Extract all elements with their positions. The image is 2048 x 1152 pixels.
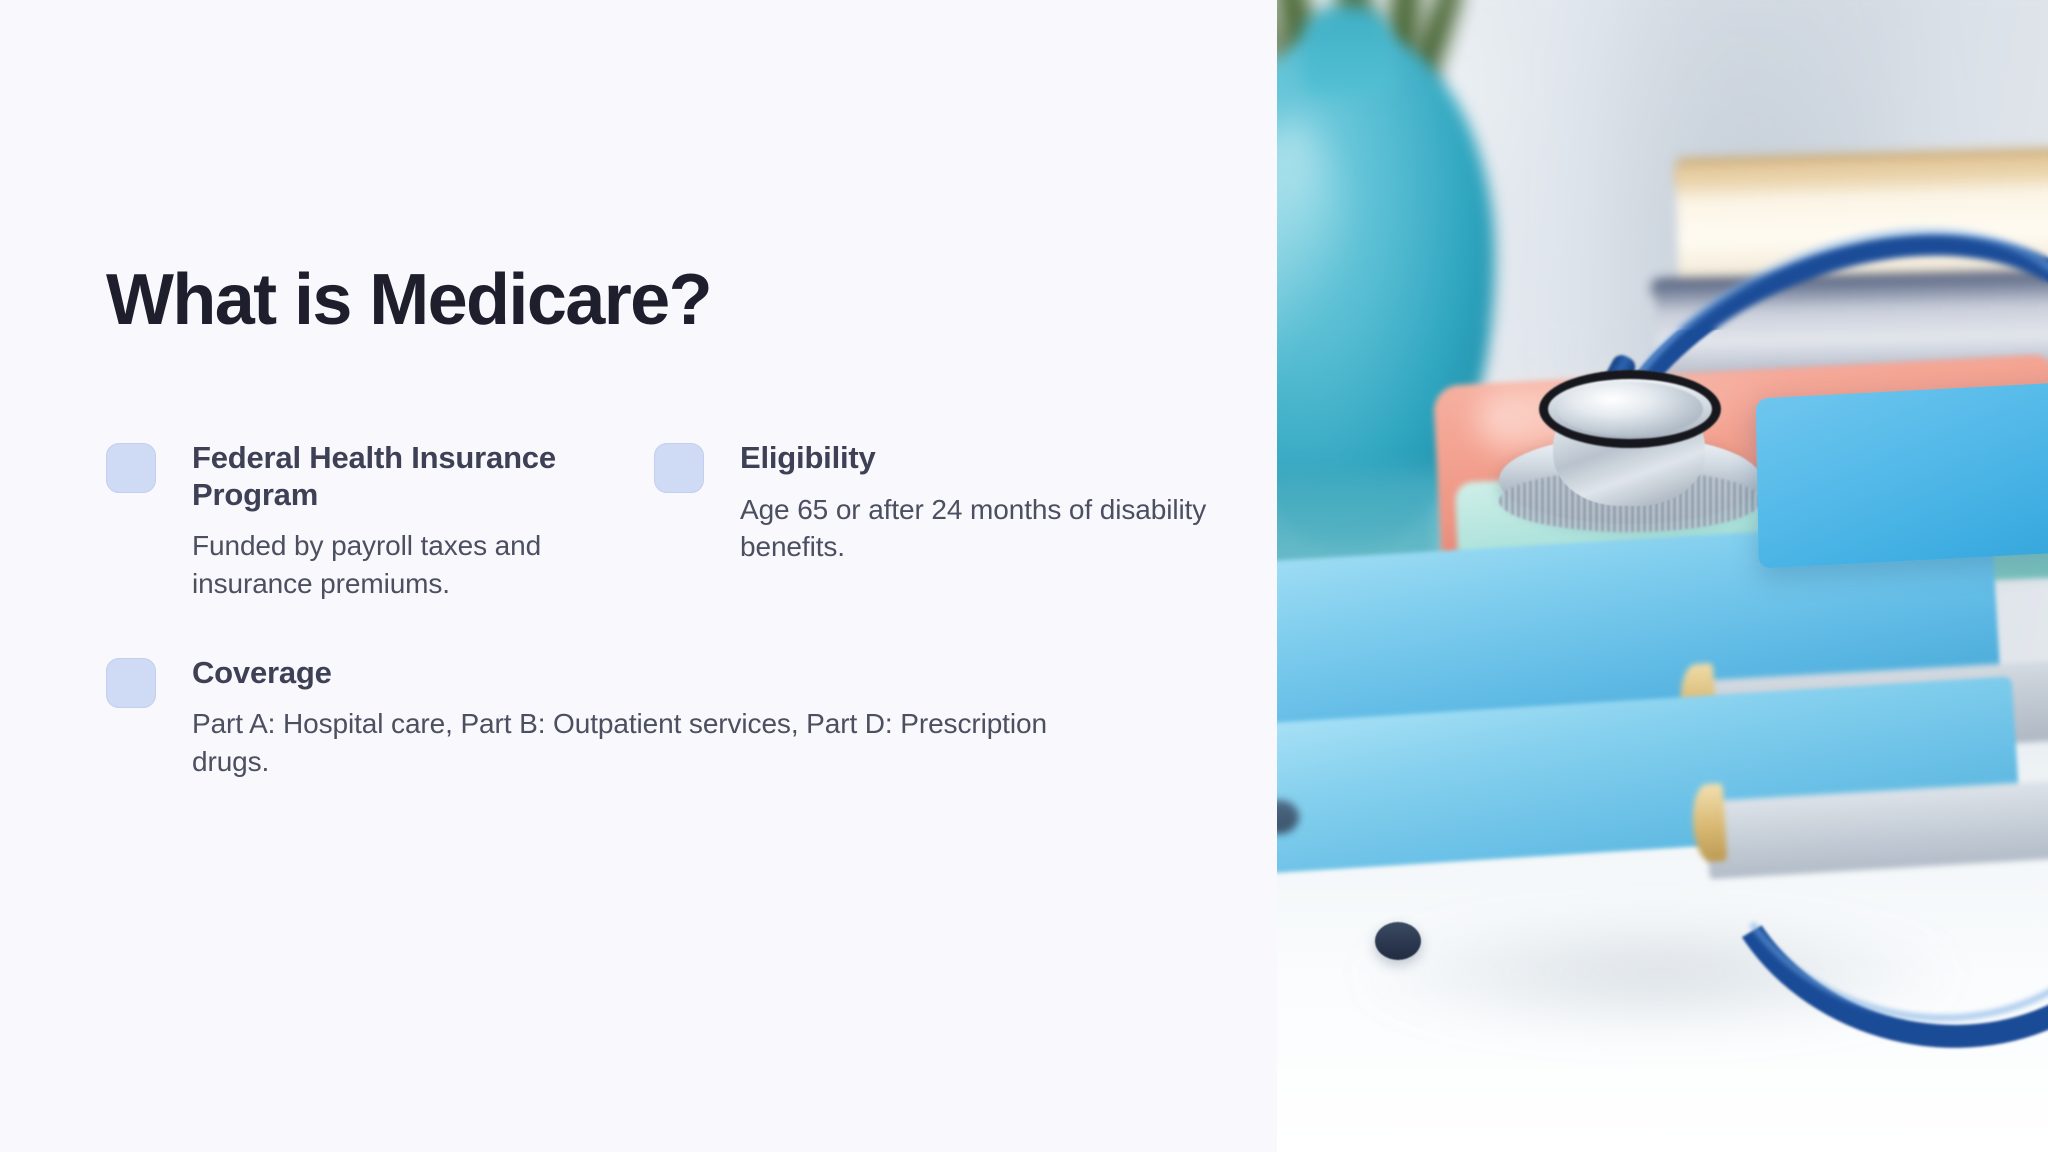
- feature-body: Funded by payroll taxes and insurance pr…: [192, 527, 614, 603]
- page-title: What is Medicare?: [106, 264, 711, 336]
- slide-root: What is Medicare? Federal Health Insuran…: [0, 0, 2048, 1152]
- bullet-square-marker-icon: [106, 658, 156, 708]
- photo-small-dark-disc: [1375, 922, 1421, 960]
- feature-heading: Coverage: [192, 655, 1106, 692]
- features-row-bottom: Coverage Part A: Hospital care, Part B: …: [106, 655, 1216, 781]
- photo-blue-card: [1756, 381, 2048, 568]
- content-panel: What is Medicare? Federal Health Insuran…: [0, 0, 1277, 1152]
- features-grid: Federal Health Insurance Program Funded …: [106, 440, 1216, 781]
- bullet-square-marker-icon: [654, 443, 704, 493]
- feature-item-eligibility: Eligibility Age 65 or after 24 months of…: [654, 440, 1216, 603]
- feature-text: Coverage Part A: Hospital care, Part B: …: [192, 655, 1106, 781]
- feature-text: Federal Health Insurance Program Funded …: [192, 440, 614, 603]
- feature-item-federal-health-insurance-program: Federal Health Insurance Program Funded …: [106, 440, 654, 603]
- feature-heading: Federal Health Insurance Program: [192, 440, 614, 513]
- bullet-square-marker-icon: [106, 443, 156, 493]
- feature-body: Age 65 or after 24 months of disability …: [740, 491, 1216, 567]
- feature-body: Part A: Hospital care, Part B: Outpatien…: [192, 705, 1106, 781]
- photo-vase-neck: [1301, 6, 1393, 96]
- photo-composition: [1277, 0, 2048, 1152]
- feature-heading: Eligibility: [740, 440, 1216, 477]
- features-row-top: Federal Health Insurance Program Funded …: [106, 440, 1216, 603]
- feature-item-coverage: Coverage Part A: Hospital care, Part B: …: [106, 655, 1106, 781]
- feature-text: Eligibility Age 65 or after 24 months of…: [740, 440, 1216, 566]
- photo-stethoscope-chestpiece-inner: [1557, 382, 1703, 436]
- medical-desk-photo: [1277, 0, 2048, 1152]
